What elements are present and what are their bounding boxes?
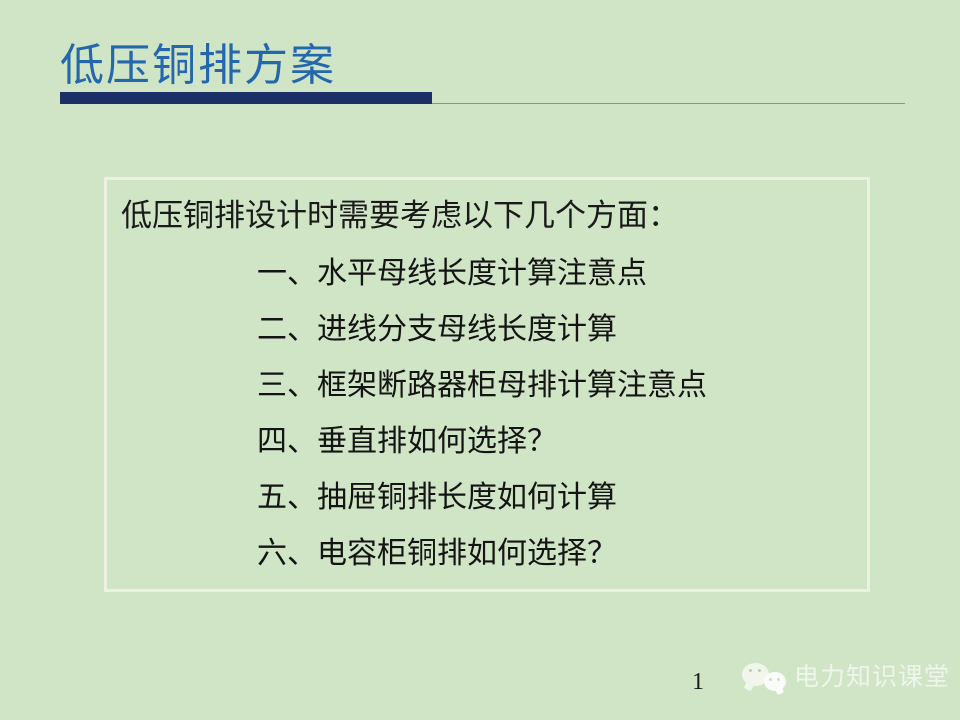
list-item-label: 框架断路器柜母排计算注意点 <box>317 369 707 402</box>
page-number: 1 <box>692 668 704 696</box>
wechat-dot <box>749 669 752 672</box>
list-item: 一、水平母线长度计算注意点 <box>257 255 857 293</box>
title-underline-rule <box>432 103 905 104</box>
page-title: 低压铜排方案 <box>60 42 336 90</box>
list-item: 三、框架断路器柜母排计算注意点 <box>257 367 857 405</box>
agenda-list: 一、水平母线长度计算注意点 二、进线分支母线长度计算 三、框架断路器柜母排计算注… <box>257 255 857 573</box>
list-item-label: 抽屉铜排长度如何计算 <box>317 481 617 514</box>
content-box: 低压铜排设计时需要考虑以下几个方面： 一、水平母线长度计算注意点 二、进线分支母… <box>104 177 870 592</box>
list-item: 二、进线分支母线长度计算 <box>257 311 857 349</box>
watermark-label: 电力知识课堂 <box>794 663 950 693</box>
list-item-label: 水平母线长度计算注意点 <box>317 257 647 290</box>
wechat-bubble-small <box>764 672 786 691</box>
wechat-dot <box>758 669 761 672</box>
list-item-number: 三、 <box>257 369 317 402</box>
wechat-icon <box>742 661 786 695</box>
list-item-number: 六、 <box>257 537 317 570</box>
list-item-label: 电容柜铜排如何选择？ <box>317 537 617 570</box>
wechat-dot <box>769 678 772 681</box>
list-item-number: 一、 <box>257 257 317 290</box>
list-item-label: 进线分支母线长度计算 <box>317 313 617 346</box>
wechat-dot <box>777 678 780 681</box>
intro-text: 低压铜排设计时需要考虑以下几个方面： <box>121 196 679 236</box>
list-item: 六、电容柜铜排如何选择？ <box>257 535 857 573</box>
list-item: 四、垂直排如何选择？ <box>257 423 857 461</box>
slide-canvas: 低压铜排方案 低压铜排设计时需要考虑以下几个方面： 一、水平母线长度计算注意点 … <box>0 0 960 720</box>
watermark: 电力知识课堂 <box>742 657 950 699</box>
list-item-label: 垂直排如何选择？ <box>317 425 557 458</box>
list-item-number: 二、 <box>257 313 317 346</box>
title-underline-bar <box>60 92 432 104</box>
title-block: 低压铜排方案 <box>0 0 960 120</box>
list-item: 五、抽屉铜排长度如何计算 <box>257 479 857 517</box>
list-item-number: 五、 <box>257 481 317 514</box>
list-item-number: 四、 <box>257 425 317 458</box>
